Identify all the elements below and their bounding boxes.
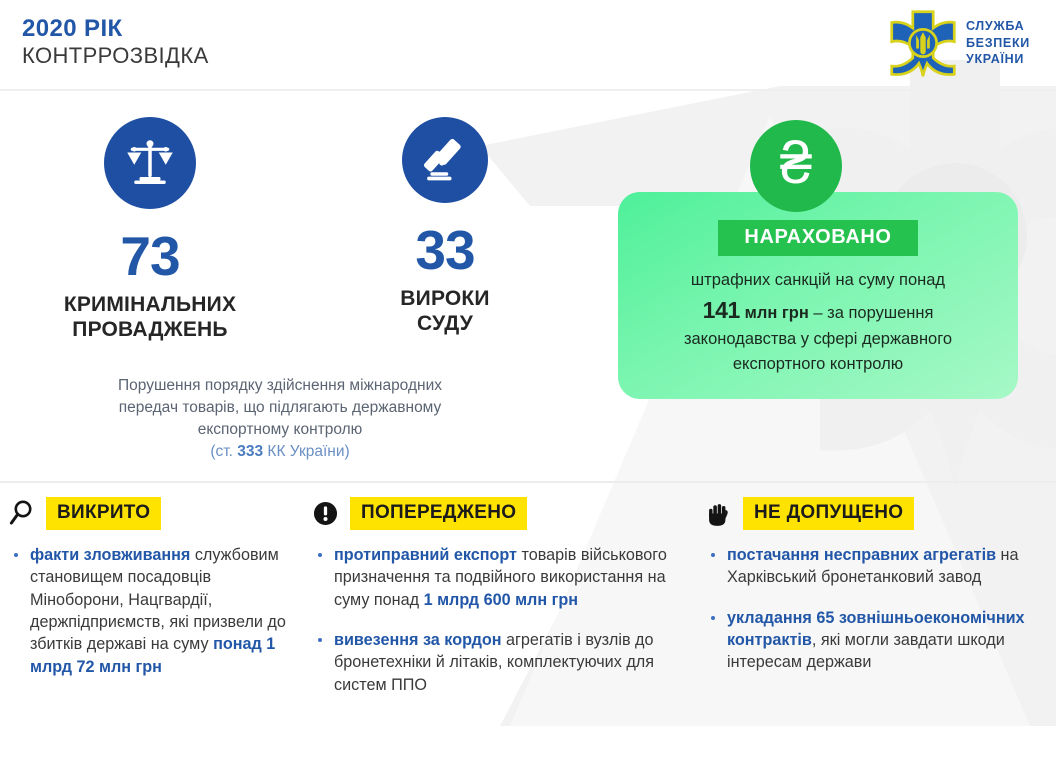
fines-line-2: 141 млн грн – за порушення — [640, 293, 996, 328]
stat-note-line-1: Порушення порядку здійснення міжнародних — [20, 375, 540, 397]
bullet-lead: факти зловживання — [30, 546, 190, 564]
bullet-lead: вивезення за кордон — [334, 631, 502, 649]
magnifier-icon — [8, 499, 34, 527]
hryvnia-icon: ₴ — [750, 120, 842, 212]
column-tag: ВИКРИТО — [46, 497, 161, 530]
hryvnia-glyph: ₴ — [780, 135, 812, 193]
stat-label: ВИРОКИ СУДУ — [350, 287, 540, 336]
fines-amount-unit: млн грн — [745, 304, 809, 322]
column-bullets: протиправний експорт товарів військового… — [312, 544, 692, 696]
fines-line-1: штрафних санкцій на суму понад — [640, 268, 996, 293]
column-header: НЕ ДОПУЩЕНО — [705, 495, 1045, 531]
fines-amount: 141 — [703, 297, 740, 323]
fines-line-3: законодавства у сфері державного — [640, 327, 996, 352]
fines-card: НАРАХОВАНО штрафних санкцій на суму пона… — [618, 192, 1018, 399]
stat-label-line-1: КРИМІНАЛЬНИХ — [45, 293, 255, 318]
law-suffix: КК України) — [263, 443, 350, 460]
sbu-emblem-icon — [889, 9, 957, 77]
scales-of-justice-icon — [122, 135, 178, 191]
column-poperedzheno: ПОПЕРЕДЖЕНО протиправний експорт товарів… — [312, 495, 692, 714]
list-item: протиправний експорт товарів військового… — [312, 544, 692, 611]
fines-line-4: експортного контролю — [640, 352, 996, 377]
law-prefix: (ст. — [210, 443, 237, 460]
page-header: 2020 РІК КОНТРРОЗВІДКА СЛУЖБА БЕЗПЕКИ УК… — [0, 0, 1056, 90]
section-divider — [0, 481, 1056, 483]
column-vykryto: ВИКРИТО факти зловживання службовим стан… — [8, 495, 308, 696]
exclamation-circle-icon — [312, 499, 338, 527]
fines-card-tag: НАРАХОВАНО — [718, 220, 917, 256]
fines-card-body: штрафних санкцій на суму понад 141 млн г… — [640, 268, 996, 377]
stat-icon-badge — [104, 117, 196, 209]
list-item: укладання 65 зовнішньоекономічних контра… — [705, 607, 1045, 674]
infographic-page: 2020 РІК КОНТРРОЗВІДКА СЛУЖБА БЕЗПЕКИ УК… — [0, 0, 1056, 757]
title-year: 2020 РІК — [22, 14, 209, 43]
stat-court-verdicts: 33 ВИРОКИ СУДУ — [350, 117, 540, 336]
gavel-icon — [419, 134, 471, 186]
column-header: ПОПЕРЕДЖЕНО — [312, 495, 692, 531]
stat-note-law-reference: (ст. 333 КК України) — [20, 441, 540, 463]
stat-number: 73 — [45, 229, 255, 284]
column-tag: НЕ ДОПУЩЕНО — [743, 497, 914, 530]
stat-icon-badge — [402, 117, 488, 203]
logo-line-2: БЕЗПЕКИ — [966, 35, 1030, 52]
column-bullets: постачання несправних агрегатів на Харкі… — [705, 544, 1045, 674]
column-bullets: факти зловживання службовим становищем п… — [8, 544, 308, 678]
stop-hand-icon — [705, 499, 731, 527]
sbu-logo: СЛУЖБА БЕЗПЕКИ УКРАЇНИ — [889, 9, 1030, 77]
logo-line-3: УКРАЇНИ — [966, 51, 1030, 68]
fines-line-2-rest: – за порушення — [813, 304, 933, 322]
list-item: постачання несправних агрегатів на Харкі… — [705, 544, 1045, 589]
column-tag: ПОПЕРЕДЖЕНО — [350, 497, 527, 530]
list-item: факти зловживання службовим становищем п… — [8, 544, 308, 678]
law-number: 333 — [237, 443, 263, 460]
stat-label-line-2: СУДУ — [350, 312, 540, 337]
sbu-logo-text: СЛУЖБА БЕЗПЕКИ УКРАЇНИ — [966, 18, 1030, 68]
column-header: ВИКРИТО — [8, 495, 308, 531]
stat-label-line-1: ВИРОКИ — [350, 287, 540, 312]
stat-label-line-2: ПРОВАДЖЕНЬ — [45, 318, 255, 343]
stat-number: 33 — [350, 223, 540, 278]
stat-label: КРИМІНАЛЬНИХ ПРОВАДЖЕНЬ — [45, 293, 255, 342]
stat-note: Порушення порядку здійснення міжнародних… — [20, 375, 540, 463]
bullet-lead: протиправний експорт — [334, 546, 517, 564]
bullet-lead: постачання несправних агрегатів — [727, 546, 996, 564]
list-item: вивезення за кордон агрегатів і вузлів д… — [312, 629, 692, 696]
stat-note-line-2: передач товарів, що підлягають державном… — [20, 397, 540, 419]
bullet-trail: 1 млрд 600 млн грн — [424, 591, 578, 609]
stat-note-line-3: експортному контролю — [20, 419, 540, 441]
page-title: 2020 РІК КОНТРРОЗВІДКА — [22, 14, 209, 70]
stat-criminal-proceedings: 73 КРИМІНАЛЬНИХ ПРОВАДЖЕНЬ — [45, 117, 255, 342]
title-subtitle: КОНТРРОЗВІДКА — [22, 43, 209, 70]
logo-line-1: СЛУЖБА — [966, 18, 1030, 35]
column-ne-dopushcheno: НЕ ДОПУЩЕНО постачання несправних агрега… — [705, 495, 1045, 692]
